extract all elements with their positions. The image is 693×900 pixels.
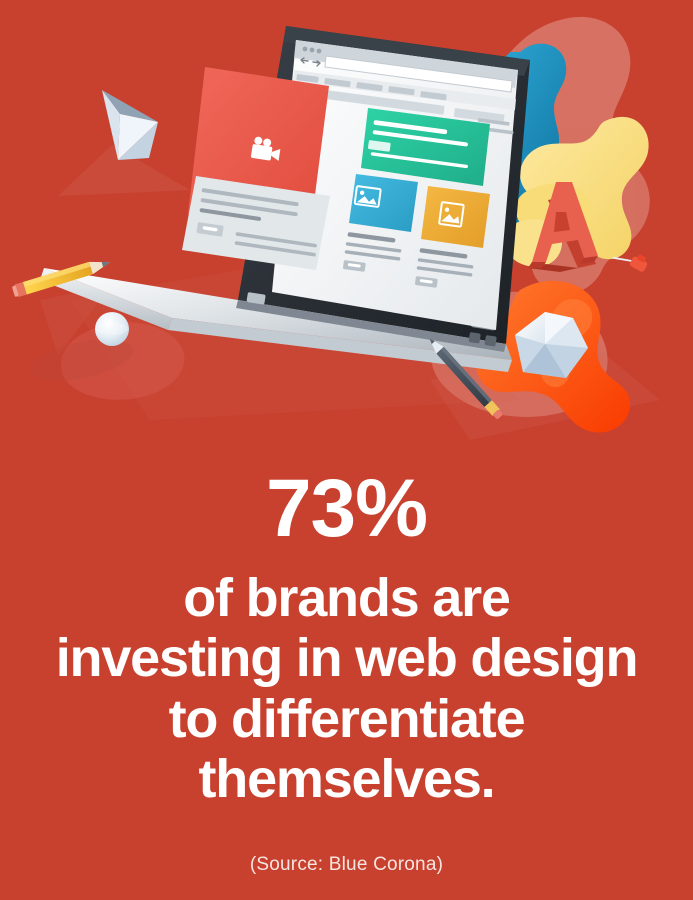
headline-line-4: themselves.: [18, 749, 675, 809]
headline: of brands are investing in web design to…: [0, 568, 693, 810]
orange-image-card: [421, 186, 490, 248]
browser-traffic-lights: [303, 47, 308, 52]
infographic-poster: 73% of brands are investing in web desig…: [0, 0, 693, 900]
blue-image-card: [349, 174, 418, 232]
headline-line-1: of brands are: [18, 568, 675, 628]
laptop-port-3: [484, 335, 496, 347]
percentage-value: 73%: [0, 468, 693, 550]
illustration: [0, 0, 693, 470]
headline-line-2: investing in web design: [18, 628, 675, 688]
stat-block: 73% of brands are investing in web desig…: [0, 468, 693, 876]
source-attribution: (Source: Blue Corona): [0, 854, 693, 876]
headline-line-3: to differentiate: [18, 689, 675, 749]
laptop-port-2: [468, 332, 480, 344]
